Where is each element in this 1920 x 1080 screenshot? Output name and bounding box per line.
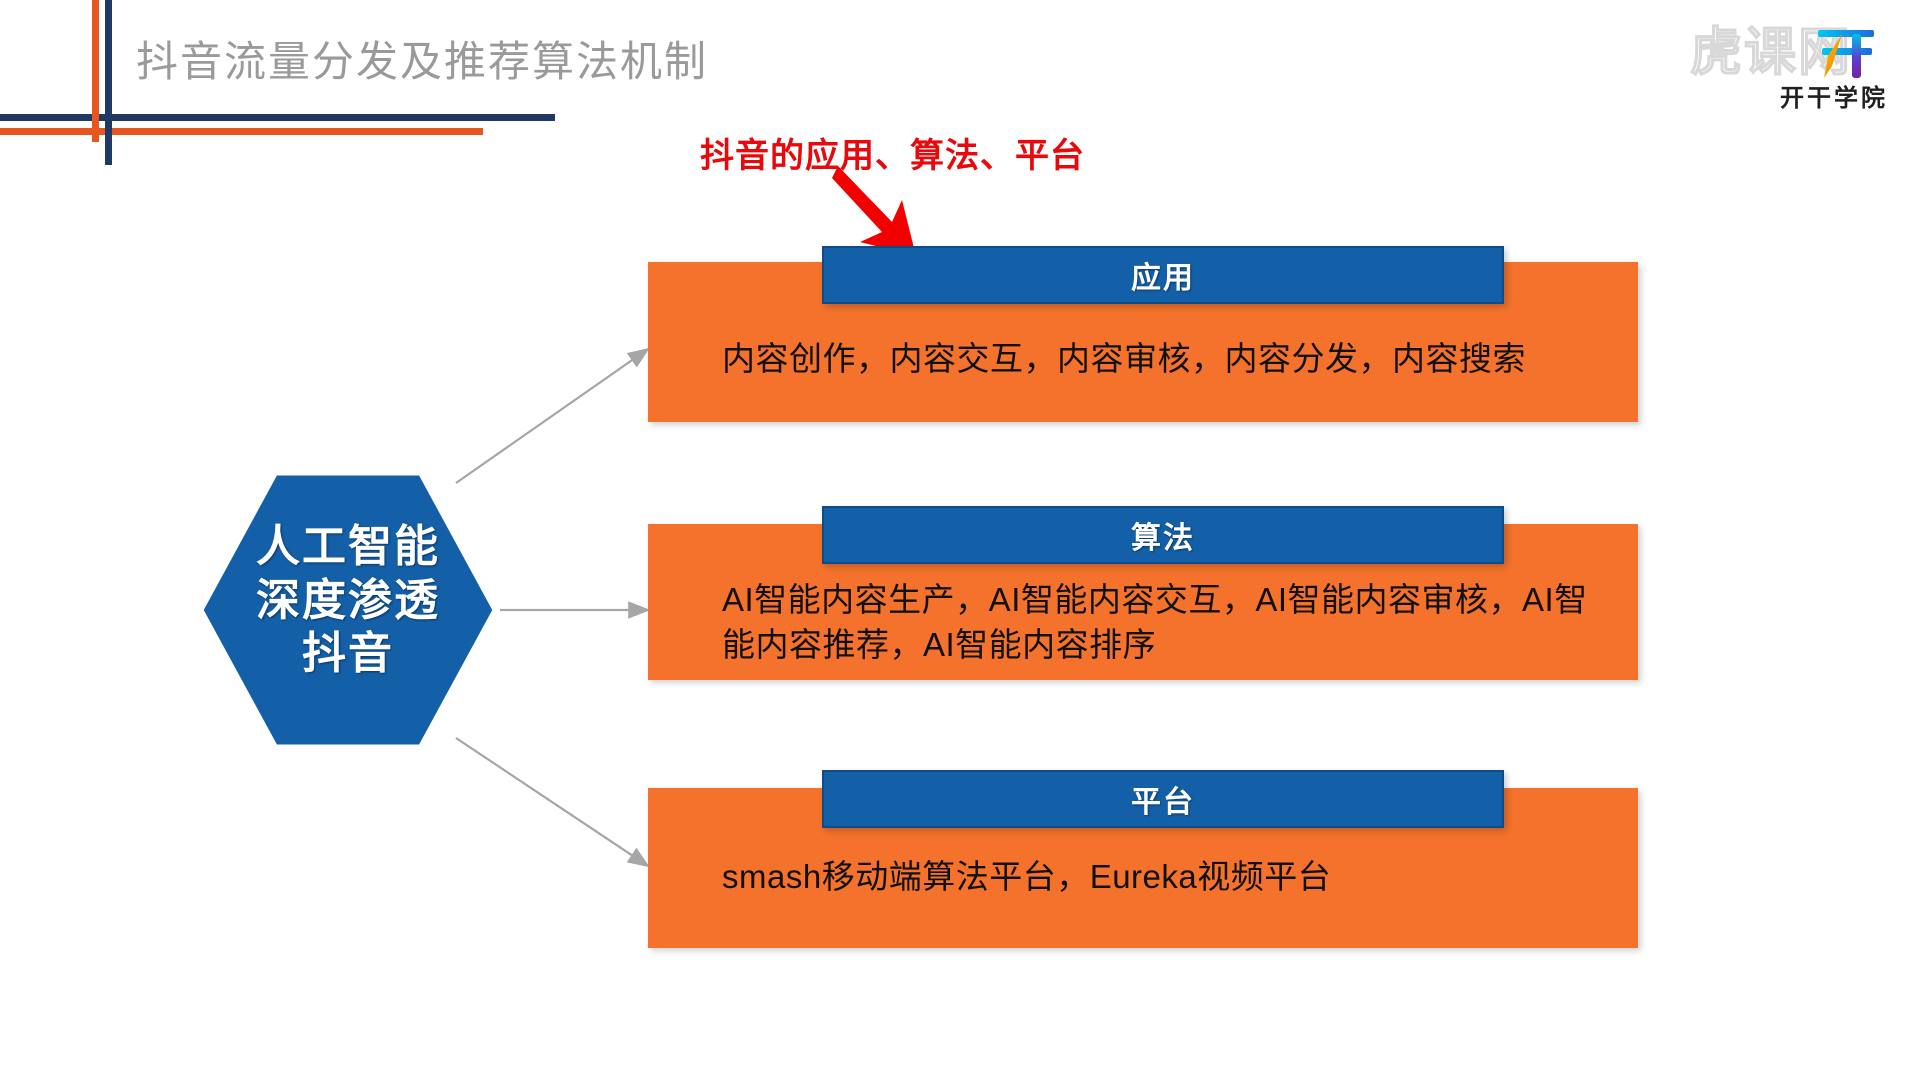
row-2-text: AI智能内容生产，AI智能内容交互，AI智能内容审核，AI智能内容推荐，AI智能… bbox=[722, 578, 1602, 667]
connector-to-row-1 bbox=[456, 349, 648, 483]
row-1-text: 内容创作，内容交互，内容审核，内容分发，内容搜索 bbox=[722, 337, 1622, 382]
page-title: 抖音流量分发及推荐算法机制 bbox=[136, 28, 708, 89]
logo-subtitle: 开干学院 bbox=[1780, 78, 1888, 113]
header-vertical-orange bbox=[92, 0, 99, 142]
header-vertical-blue bbox=[105, 0, 112, 165]
header-rule-blue bbox=[0, 114, 555, 121]
play-icon bbox=[1710, 40, 1725, 58]
brand-logo: 虎课网 开干学院 bbox=[1662, 4, 1912, 108]
header-rule-orange bbox=[0, 128, 483, 135]
connector-to-row-3 bbox=[456, 738, 648, 866]
row-3-text: smash移动端算法平台，Eureka视频平台 bbox=[722, 855, 1622, 900]
kai-glyph-icon bbox=[1812, 14, 1884, 86]
row-3-header[interactable]: 平台 bbox=[822, 770, 1504, 828]
row-1-header[interactable]: 应用 bbox=[822, 246, 1504, 304]
hexagon-shape bbox=[198, 470, 498, 750]
row-2-header[interactable]: 算法 bbox=[822, 506, 1504, 564]
